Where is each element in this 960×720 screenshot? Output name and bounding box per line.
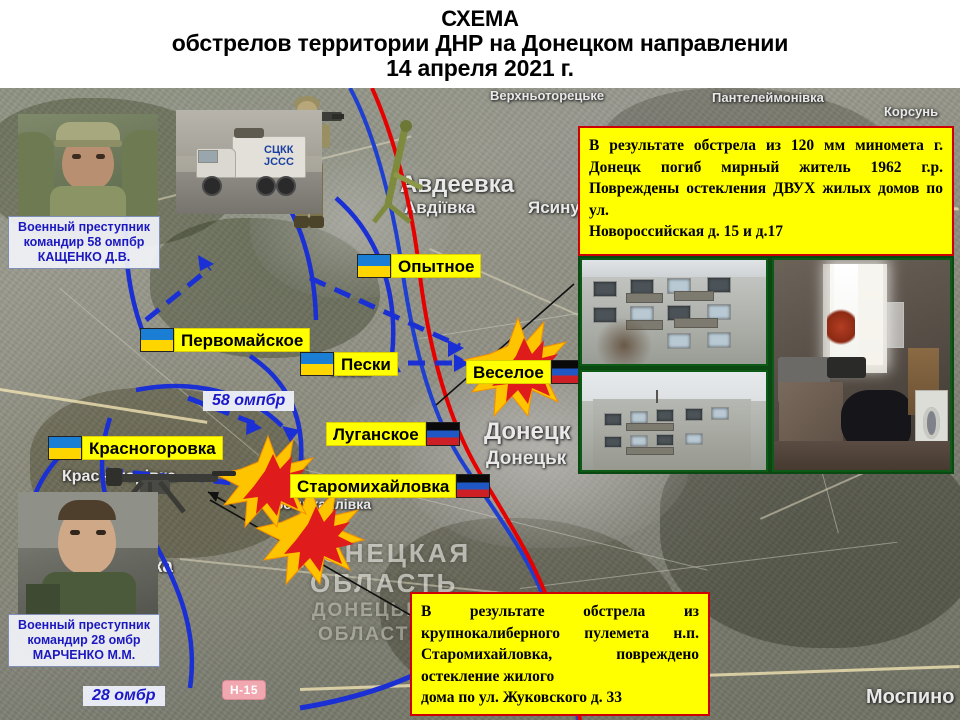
unit-badge-28-ombr: 28 омбр	[83, 686, 165, 706]
settlement-name: Первомайское	[174, 328, 310, 352]
photo-damaged-interior[interactable]	[772, 258, 952, 472]
satellite-map[interactable]: Верхньоторецьке Пантелеймонівка Корсунь …	[0, 88, 960, 720]
settlement-label-luganskoe[interactable]: Луганское	[326, 422, 460, 446]
caption-line-1: Военный преступник	[13, 220, 155, 235]
ukraine-flag-icon	[140, 328, 174, 352]
portrait-marchenko[interactable]	[18, 492, 158, 614]
movement-arc	[300, 674, 416, 708]
callout-paragraph: В результате обстрела из крупнокалиберно…	[421, 601, 699, 687]
settlement-name: Старомихайловка	[290, 474, 456, 498]
truck-marking-line1: СЦКК	[264, 144, 294, 156]
photo-jcc-truck: СЦКК JCCC	[176, 110, 322, 214]
damage-photo-panel[interactable]	[578, 256, 954, 474]
settlement-label-pervomayskoe[interactable]: Первомайское	[140, 328, 310, 352]
callout-donetsk-mortar: В результате обстрела из 120 мм миномета…	[578, 126, 954, 256]
page-title: СХЕМА обстрелов территории ДНР на Донецк…	[0, 0, 960, 88]
fire-arrow-dashed	[146, 268, 210, 320]
ukraine-flag-icon	[48, 436, 82, 460]
mortar-icon	[368, 118, 428, 228]
movement-arc	[250, 356, 301, 472]
caption-line-3: КАЩЕНКО Д.В.	[13, 250, 155, 265]
callout-paragraph: В результате обстрела из 120 мм миномета…	[589, 135, 943, 221]
settlement-name: Красногоровка	[82, 436, 223, 460]
photo-damaged-building-2[interactable]	[580, 370, 768, 472]
arrow-head	[198, 255, 214, 271]
caption-line-3: МАРЧЕНКО М.М.	[13, 648, 155, 663]
truck-marking-line2: JCCC	[264, 156, 294, 168]
arrow-head	[448, 340, 464, 357]
unit-badge-58-ompbr: 58 омпбр	[203, 391, 294, 411]
slide-root: СХЕМА обстрелов территории ДНР на Донецк…	[0, 0, 960, 720]
callout-paragraph: дома по ул. Жуковского д. 33	[421, 687, 699, 709]
portrait-kashchenko[interactable]	[18, 114, 158, 216]
settlement-label-krasnogorovka[interactable]: Красногоровка	[48, 436, 223, 460]
dnr-flag-icon	[426, 422, 460, 446]
settlement-label-veseloe[interactable]: Веселое	[466, 360, 585, 384]
settlement-name: Пески	[334, 352, 398, 376]
caption-line-1: Военный преступник	[13, 618, 155, 633]
portrait-caption-kashchenko: Военный преступник командир 58 омпбр КАЩ…	[8, 216, 160, 269]
photo-damaged-building-1[interactable]	[580, 258, 768, 366]
settlement-label-staromikhailovka[interactable]: Старомихайловка	[290, 474, 490, 498]
callout-paragraph: Новороссийская д. 15 и д.17	[589, 221, 943, 243]
arrow-head	[246, 418, 262, 435]
settlement-name: Веселое	[466, 360, 551, 384]
settlement-name: Луганское	[326, 422, 426, 446]
dnr-flag-icon	[456, 474, 490, 498]
settlement-label-peski[interactable]: Пески	[300, 352, 398, 376]
callout-staromikhailovka-mg: В результате обстрела из крупнокалиберно…	[410, 592, 710, 716]
caption-line-2: командир 58 омпбр	[13, 235, 155, 250]
ukraine-flag-icon	[357, 254, 391, 278]
title-line-2: обстрелов территории ДНР на Донецком нап…	[0, 31, 960, 56]
portrait-caption-marchenko: Военный преступник командир 28 омбр МАРЧ…	[8, 614, 160, 667]
fire-arrow-dashed	[310, 278, 460, 346]
title-line-3: 14 апреля 2021 г.	[0, 56, 960, 81]
settlement-name: Опытное	[391, 254, 481, 278]
ukraine-flag-icon	[300, 352, 334, 376]
settlement-label-opytnoe[interactable]: Опытное	[357, 254, 481, 278]
caption-line-2: командир 28 омбр	[13, 633, 155, 648]
title-line-1: СХЕМА	[0, 6, 960, 31]
